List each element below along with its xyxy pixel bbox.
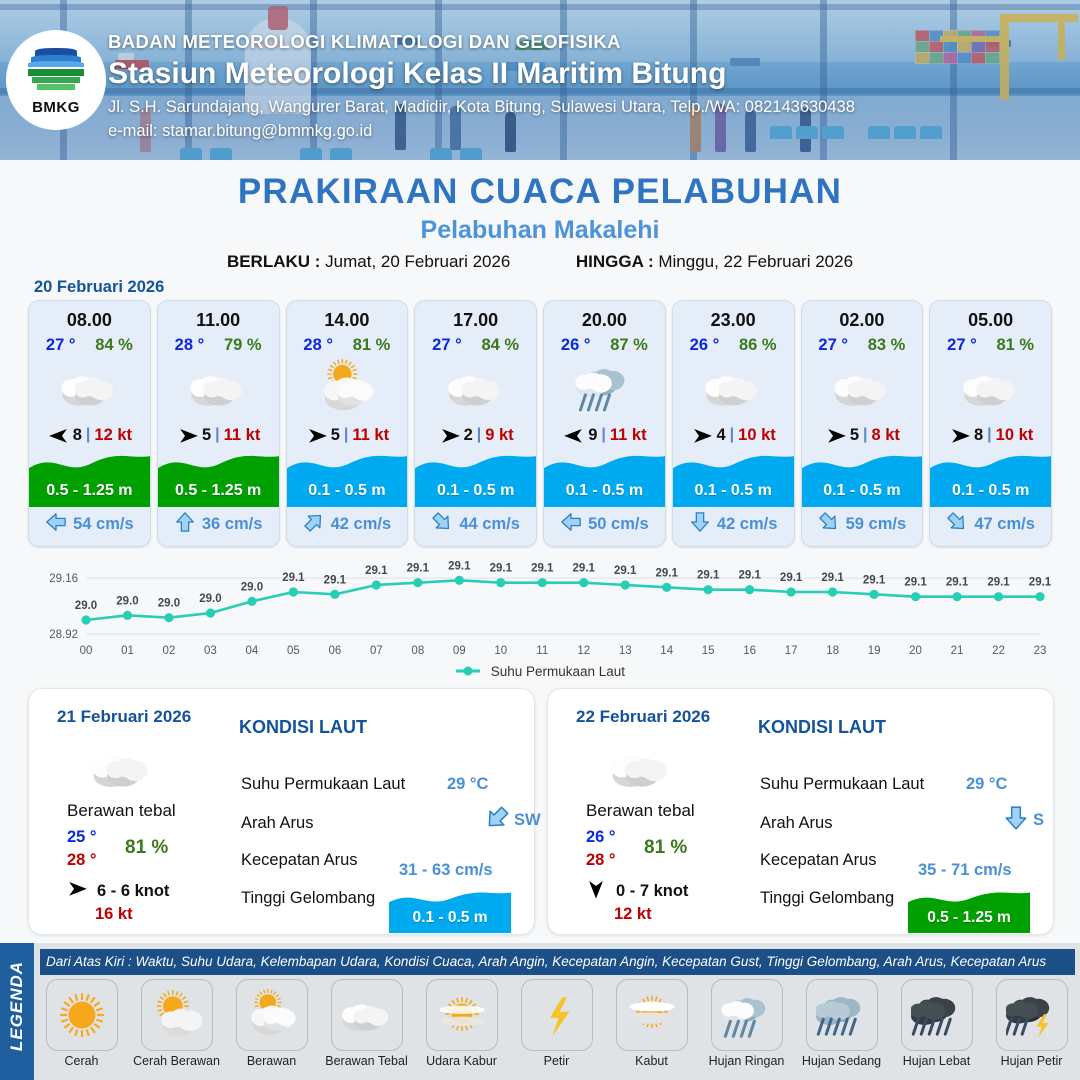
forecast-card: 02.00 27 ° 83 % 5 | 8 kt 0.1 - 0 (801, 300, 924, 547)
weather-icon-hujan-lebat (901, 979, 973, 1051)
legend-item-label: Berawan Tebal (325, 1054, 407, 1068)
svg-text:29.1: 29.1 (738, 570, 761, 582)
header-text-block: BADAN METEOROLOGI KLIMATOLOGI DAN GEOFIS… (108, 30, 1048, 144)
separator: | (601, 426, 605, 444)
wind-speed: 8 (974, 426, 983, 445)
svg-text:15: 15 (702, 645, 715, 657)
wind-speed: 5 (331, 426, 340, 445)
legend-item: Hujan Lebat (889, 979, 984, 1068)
svg-text:29.1: 29.1 (946, 577, 969, 589)
chart-legend-marker (455, 665, 481, 680)
logo-text: BMKG (32, 99, 80, 116)
wind-direction-arrow-icon (562, 426, 584, 444)
card-humidity: 86 % (739, 336, 777, 355)
current-direction-arrow-icon (431, 511, 453, 538)
forecast-card: 23.00 26 ° 86 % 4 | 10 kt 0.1 - (672, 300, 795, 547)
forecast-day-label: 20 Februari 2026 (34, 278, 164, 297)
legend-item: Berawan (224, 979, 319, 1068)
svg-text:10: 10 (494, 645, 507, 657)
separator: | (477, 426, 481, 444)
card-humidity: 83 % (868, 336, 906, 355)
legend-vertical-title: LEGENDA (7, 958, 27, 1054)
current-speed-value: 35 - 71 cm/s (918, 861, 1012, 880)
svg-text:29.1: 29.1 (697, 570, 720, 582)
current-speed: 54 cm/s (73, 515, 134, 534)
wind-gust: 8 kt (871, 426, 899, 445)
wind-gust: 10 kt (738, 426, 776, 445)
current-speed: 44 cm/s (459, 515, 520, 534)
legend-item: Udara Kabur (414, 979, 509, 1068)
svg-text:29.1: 29.1 (324, 574, 347, 586)
svg-text:17: 17 (785, 645, 798, 657)
panel-humidity: 81 % (644, 837, 687, 859)
svg-text:29.0: 29.0 (158, 598, 180, 610)
svg-text:21: 21 (951, 645, 964, 657)
svg-text:29.1: 29.1 (573, 563, 596, 575)
legend-item: Cerah Berawan (129, 979, 224, 1068)
current-speed: 36 cm/s (202, 515, 263, 534)
svg-text:18: 18 (826, 645, 839, 657)
card-time: 20.00 (544, 310, 665, 331)
svg-text:08: 08 (411, 645, 424, 657)
weather-icon-berawan-tebal (802, 357, 923, 419)
wave-height-value: 0.1 - 0.5 m (802, 482, 923, 500)
legend-item-label: Cerah Berawan (133, 1054, 220, 1068)
wave-height-band: 0.1 - 0.5 m (930, 449, 1051, 507)
card-humidity: 81 % (353, 336, 391, 355)
current-speed-value: 31 - 63 cm/s (399, 861, 493, 880)
svg-text:29.0: 29.0 (116, 595, 138, 607)
hourly-forecast-strip: 08.00 27 ° 84 % 8 | 12 kt 0.5 - (28, 300, 1052, 545)
svg-text:09: 09 (453, 645, 466, 657)
port-name: Pelabuhan Makalehi (0, 216, 1080, 245)
wind-direction-arrow-icon (584, 879, 608, 904)
legend-item: Cerah (34, 979, 129, 1068)
panel-wave-value: 0.1 - 0.5 m (389, 909, 511, 927)
legend-item: Berawan Tebal (319, 979, 414, 1068)
sea-surface-temp-value: 29 °C (447, 775, 488, 794)
legend-footer: LEGENDA Dari Atas Kiri : Waktu, Suhu Uda… (0, 943, 1080, 1080)
svg-text:13: 13 (619, 645, 632, 657)
card-temperature: 27 ° (947, 336, 977, 355)
weather-icon-berawan-tebal (331, 979, 403, 1051)
current-direction-value: SW (514, 811, 541, 830)
wind-gust: 10 kt (996, 426, 1034, 445)
forecast-card: 17.00 27 ° 84 % 2 | 9 kt 0.1 - 0 (414, 300, 537, 547)
svg-text:28.92: 28.92 (49, 629, 78, 641)
wave-height-band: 0.1 - 0.5 m (415, 449, 536, 507)
current-direction-arrow-icon (174, 511, 196, 538)
wind-gust: 11 kt (224, 426, 261, 445)
svg-text:29.16: 29.16 (49, 573, 78, 585)
day-panel-21: 21 Februari 2026 Berawan tebal 25 ° 28 °… (28, 688, 535, 935)
wind-direction-arrow-icon (305, 426, 327, 444)
panel-date: 22 Februari 2026 (576, 707, 710, 727)
card-temperature: 26 ° (561, 336, 591, 355)
current-direction-arrow-icon (45, 511, 67, 538)
forecast-card: 08.00 27 ° 84 % 8 | 12 kt 0.5 - (28, 300, 151, 547)
separator: | (863, 426, 867, 444)
separator: | (344, 426, 348, 444)
panel-condition: Berawan tebal (67, 801, 176, 821)
wave-height-band: 0.1 - 0.5 m (544, 449, 665, 507)
svg-text:02: 02 (163, 645, 176, 657)
wave-height-band: 0.1 - 0.5 m (287, 449, 408, 507)
svg-text:29.1: 29.1 (282, 572, 305, 584)
wind-gust: 11 kt (352, 426, 389, 445)
wind-speed: 4 (716, 426, 725, 445)
current-direction-arrow-icon (560, 511, 582, 538)
weather-icon-petir (521, 979, 593, 1051)
svg-text:29.1: 29.1 (448, 560, 471, 572)
wave-height-band: 0.5 - 1.25 m (158, 449, 279, 507)
legend-side-strip: LEGENDA (0, 943, 34, 1080)
legend-item-label: Hujan Lebat (903, 1054, 970, 1068)
current-direction-arrow-icon (1003, 805, 1029, 836)
panel-wave-value: 0.5 - 1.25 m (908, 909, 1030, 927)
forecast-card: 11.00 28 ° 79 % 5 | 11 kt 0.5 - (157, 300, 280, 547)
weather-icon-hujan-sedang (806, 979, 878, 1051)
logo-emblem (28, 46, 84, 98)
weather-icon-hujan-ringan (711, 979, 783, 1051)
legend-item: Kabut (604, 979, 699, 1068)
svg-text:29.1: 29.1 (531, 563, 554, 575)
svg-text:29.1: 29.1 (490, 563, 513, 575)
berlaku-label: BERLAKU : (227, 252, 321, 271)
station-name: Stasiun Meteorologi Kelas II Maritim Bit… (108, 54, 1048, 93)
wave-height-value: 0.1 - 0.5 m (287, 482, 408, 500)
panel-temp-min: 25 ° (67, 828, 97, 847)
legend-item-label: Hujan Ringan (709, 1054, 785, 1068)
day-panel-22: 22 Februari 2026 Berawan tebal 26 ° 28 °… (547, 688, 1054, 935)
panel-wave-band: 0.1 - 0.5 m (389, 887, 511, 933)
legend-item: Hujan Ringan (699, 979, 794, 1068)
weather-icon-kabut (616, 979, 688, 1051)
weather-icon-berawan (287, 357, 408, 419)
card-time: 11.00 (158, 310, 279, 331)
sea-row-label: Suhu Permukaan Laut (241, 775, 405, 794)
legend-item-label: Kabut (635, 1054, 668, 1068)
current-direction-arrow-icon (946, 511, 968, 538)
sst-chart: 29.1628.9229.00029.00129.00229.00329.004… (28, 556, 1052, 681)
card-humidity: 84 % (481, 336, 519, 355)
panel-temp-max: 28 ° (586, 851, 616, 870)
legend-item: Hujan Sedang (794, 979, 889, 1068)
card-humidity: 79 % (224, 336, 262, 355)
panel-temp-min: 26 ° (586, 828, 616, 847)
panel-date: 21 Februari 2026 (57, 707, 191, 727)
weather-icon-berawan (236, 979, 308, 1051)
validity-row: BERLAKU : Jumat, 20 Februari 2026 HINGGA… (0, 252, 1080, 272)
weather-icon-berawan-tebal (930, 357, 1051, 419)
card-humidity: 87 % (610, 336, 648, 355)
legend-items: Cerah Cerah Berawan Berawan (34, 979, 1080, 1068)
svg-text:29.1: 29.1 (614, 565, 637, 577)
wind-gust: 11 kt (610, 426, 647, 445)
legend-item-label: Berawan (247, 1054, 296, 1068)
card-temperature: 27 ° (818, 336, 848, 355)
current-speed: 42 cm/s (331, 515, 392, 534)
wind-direction-arrow-icon (690, 426, 712, 444)
wind-speed: 2 (464, 426, 473, 445)
wind-speed: 5 (850, 426, 859, 445)
svg-text:20: 20 (909, 645, 922, 657)
svg-text:23: 23 (1034, 645, 1047, 657)
svg-text:22: 22 (992, 645, 1005, 657)
wave-height-value: 0.5 - 1.25 m (29, 482, 150, 500)
weather-icon-berawan-tebal (158, 357, 279, 419)
legend-note: Dari Atas Kiri : Waktu, Suhu Udara, Kele… (40, 949, 1075, 975)
svg-text:04: 04 (246, 645, 259, 657)
wind-speed: 9 (588, 426, 597, 445)
sea-row-label: Suhu Permukaan Laut (760, 775, 924, 794)
wind-direction-arrow-icon (176, 426, 198, 444)
sea-conditions-heading: KONDISI LAUT (239, 717, 367, 738)
weather-icon-berawan-tebal (91, 737, 153, 804)
sea-surface-temp-value: 29 °C (966, 775, 1007, 794)
wind-direction-arrow-icon (824, 426, 846, 444)
card-temperature: 27 ° (46, 336, 76, 355)
card-time: 14.00 (287, 310, 408, 331)
wave-height-value: 0.1 - 0.5 m (415, 482, 536, 500)
weather-icon-berawan-tebal (29, 357, 150, 419)
current-direction-arrow-icon (303, 511, 325, 538)
legend-item: Hujan Petir (984, 979, 1079, 1068)
legend-item-label: Hujan Sedang (802, 1054, 881, 1068)
card-time: 02.00 (802, 310, 923, 331)
card-time: 08.00 (29, 310, 150, 331)
weather-icon-udara-kabur (426, 979, 498, 1051)
separator: | (987, 426, 991, 444)
wind-direction-arrow-icon (948, 426, 970, 444)
wind-direction-arrow-icon (438, 426, 460, 444)
station-address: Jl. S.H. Sarundajang, Wangurer Barat, Ma… (108, 96, 1048, 120)
svg-text:29.1: 29.1 (987, 577, 1010, 589)
station-email: e-mail: stamar.bitung@bmmkg.go.id (108, 120, 1048, 144)
svg-text:14: 14 (660, 645, 673, 657)
svg-text:01: 01 (121, 645, 134, 657)
svg-text:29.0: 29.0 (241, 581, 263, 593)
wave-height-value: 0.1 - 0.5 m (544, 482, 665, 500)
legend-item-label: Hujan Petir (1001, 1054, 1063, 1068)
svg-text:29.1: 29.1 (863, 574, 886, 586)
wave-height-value: 0.1 - 0.5 m (673, 482, 794, 500)
wind-direction-arrow-icon (65, 879, 89, 904)
card-temperature: 28 ° (303, 336, 333, 355)
weather-icon-hujan-petir (996, 979, 1068, 1051)
svg-text:29.1: 29.1 (904, 577, 927, 589)
panel-humidity: 81 % (125, 837, 168, 859)
sea-row-label: Arah Arus (241, 814, 313, 833)
current-direction-arrow-icon (484, 805, 510, 836)
current-speed: 50 cm/s (588, 515, 649, 534)
svg-text:16: 16 (743, 645, 756, 657)
card-time: 17.00 (415, 310, 536, 331)
svg-text:03: 03 (204, 645, 217, 657)
svg-text:07: 07 (370, 645, 383, 657)
sea-row-label: Tinggi Gelombang (241, 889, 375, 908)
svg-text:29.0: 29.0 (75, 600, 97, 612)
current-direction-arrow-icon (689, 511, 711, 538)
chart-legend: Suhu Permukaan Laut (0, 664, 1080, 680)
bmkg-logo: BMKG (6, 30, 106, 130)
legend-item: Petir (509, 979, 604, 1068)
page-title: PRAKIRAAN CUACA PELABUHAN (0, 172, 1080, 212)
separator: | (730, 426, 734, 444)
weather-icon-cerah-berawan (141, 979, 213, 1051)
sea-row-label: Kecepatan Arus (241, 851, 358, 870)
sea-row-label: Tinggi Gelombang (760, 889, 894, 908)
wind-gust: 9 kt (485, 426, 513, 445)
svg-text:29.1: 29.1 (656, 567, 679, 579)
hingga-label: HINGGA : (576, 252, 654, 271)
wave-height-band: 0.1 - 0.5 m (673, 449, 794, 507)
svg-text:29.1: 29.1 (780, 572, 803, 584)
sea-conditions-heading: KONDISI LAUT (758, 717, 886, 738)
card-temperature: 26 ° (690, 336, 720, 355)
wave-height-value: 0.1 - 0.5 m (930, 482, 1051, 500)
sea-row-label: Kecepatan Arus (760, 851, 877, 870)
card-temperature: 28 ° (175, 336, 205, 355)
wind-gust: 12 kt (94, 426, 132, 445)
weather-icon-berawan-tebal (673, 357, 794, 419)
current-speed: 59 cm/s (846, 515, 907, 534)
svg-text:00: 00 (80, 645, 93, 657)
svg-text:29.1: 29.1 (365, 565, 388, 577)
separator: | (86, 426, 90, 444)
weather-icon-berawan-tebal (415, 357, 536, 419)
panel-wave-band: 0.5 - 1.25 m (908, 887, 1030, 933)
panel-condition: Berawan tebal (586, 801, 695, 821)
svg-text:29.0: 29.0 (199, 593, 221, 605)
weather-icon-berawan-tebal (610, 737, 672, 804)
wind-direction-arrow-icon (47, 426, 69, 444)
current-direction-arrow-icon (818, 511, 840, 538)
wave-height-value: 0.5 - 1.25 m (158, 482, 279, 500)
hingga-value: Minggu, 22 Februari 2026 (658, 252, 853, 271)
legend-item-label: Cerah (64, 1054, 98, 1068)
svg-text:05: 05 (287, 645, 300, 657)
svg-text:06: 06 (328, 645, 341, 657)
card-humidity: 81 % (996, 336, 1034, 355)
card-humidity: 84 % (95, 336, 133, 355)
svg-text:29.1: 29.1 (407, 563, 430, 575)
panel-gust: 16 kt (95, 905, 133, 924)
current-speed: 47 cm/s (974, 515, 1035, 534)
forecast-card: 14.00 28 ° 81 % 5 | 11 kt 0.1 - (286, 300, 409, 547)
svg-text:11: 11 (536, 645, 548, 657)
wave-height-band: 0.5 - 1.25 m (29, 449, 150, 507)
weather-icon-cerah (46, 979, 118, 1051)
current-speed: 42 cm/s (717, 515, 778, 534)
svg-text:29.1: 29.1 (1029, 577, 1052, 589)
svg-text:29.1: 29.1 (821, 572, 844, 584)
panel-gust: 12 kt (614, 905, 652, 924)
forecast-card: 20.00 26 ° 87 % 9 | 11 kt 0.1 - (543, 300, 666, 547)
weather-icon-hujan-ringan (544, 357, 665, 419)
wind-speed: 5 (202, 426, 211, 445)
separator: | (215, 426, 219, 444)
panel-wind-range: 6 - 6 knot (97, 882, 169, 901)
chart-legend-label: Suhu Permukaan Laut (491, 664, 625, 679)
wind-speed: 8 (73, 426, 82, 445)
card-time: 23.00 (673, 310, 794, 331)
panel-wind-range: 0 - 7 knot (616, 882, 688, 901)
agency-name: BADAN METEOROLOGI KLIMATOLOGI DAN GEOFIS… (108, 30, 1048, 55)
card-temperature: 27 ° (432, 336, 462, 355)
panel-temp-max: 28 ° (67, 851, 97, 870)
sea-row-label: Arah Arus (760, 814, 832, 833)
page-header: BMKG BADAN METEOROLOGI KLIMATOLOGI DAN G… (0, 0, 1080, 160)
wave-height-band: 0.1 - 0.5 m (802, 449, 923, 507)
legend-item-label: Petir (544, 1054, 570, 1068)
card-time: 05.00 (930, 310, 1051, 331)
berlaku-value: Jumat, 20 Februari 2026 (325, 252, 510, 271)
svg-text:19: 19 (868, 645, 881, 657)
legend-item-label: Udara Kabur (426, 1054, 497, 1068)
forecast-card: 05.00 27 ° 81 % 8 | 10 kt 0.1 - (929, 300, 1052, 547)
current-direction-value: S (1033, 811, 1044, 830)
svg-text:12: 12 (577, 645, 590, 657)
